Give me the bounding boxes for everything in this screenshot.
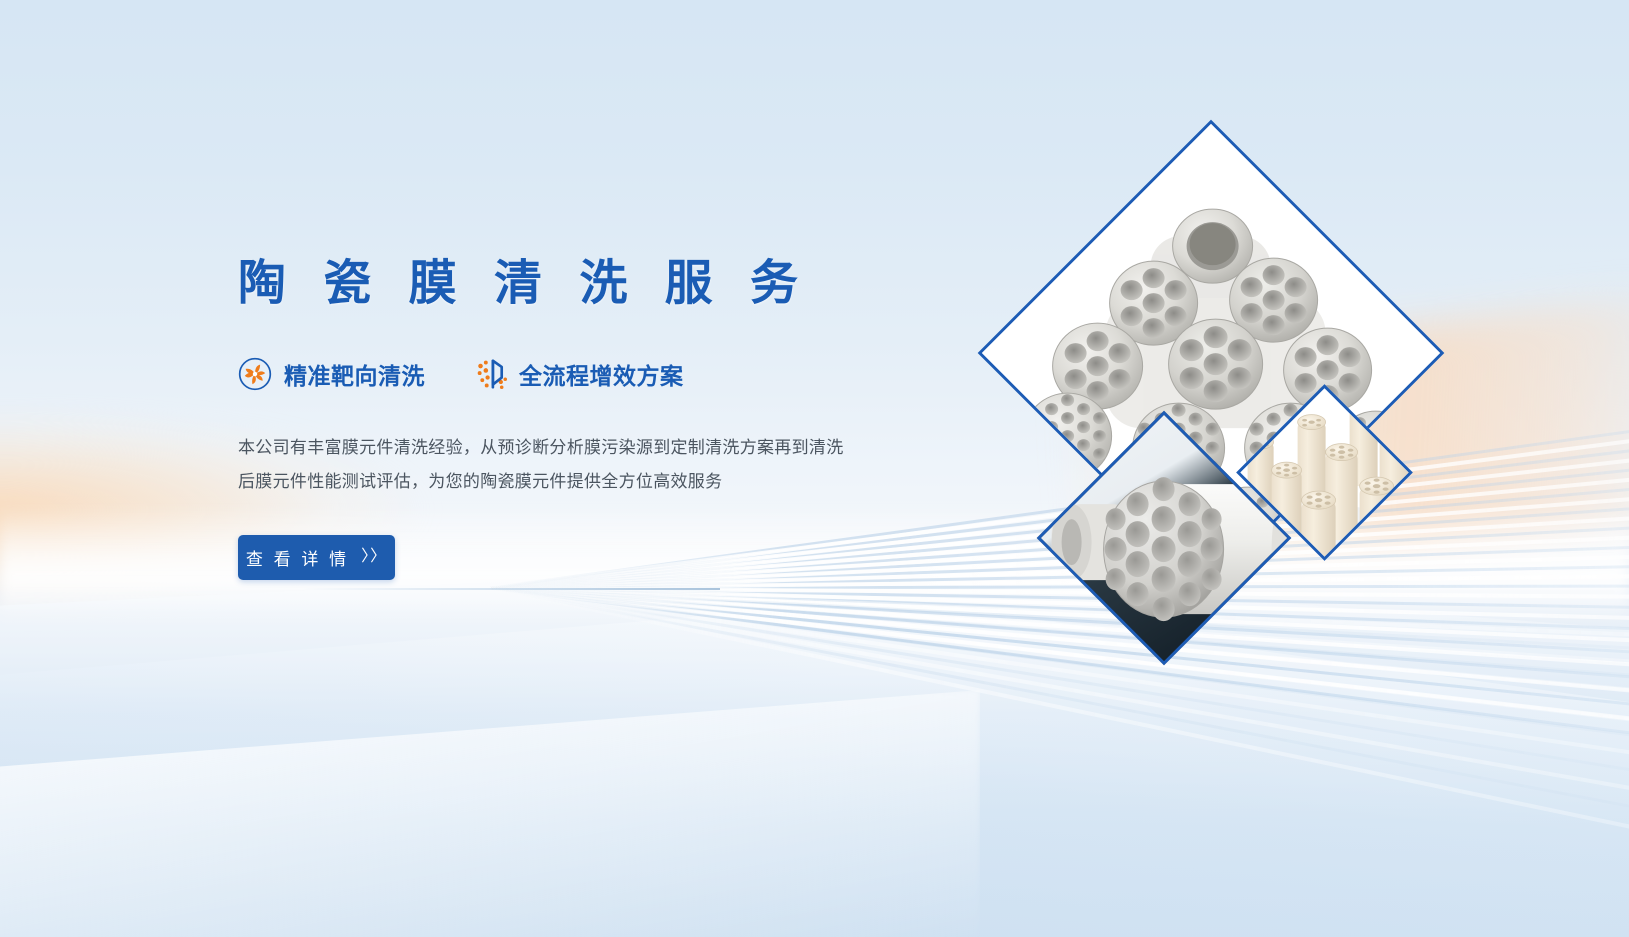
feature-item-precision-cleaning: 精准靶向清洗 xyxy=(238,357,425,391)
view-details-button[interactable]: 查 看 详 情 〉〉 xyxy=(238,535,395,580)
feature-label: 全流程增效方案 xyxy=(519,357,684,391)
description-line-1: 本公司有丰富膜元件清洗经验，从预诊断分析膜污染源到定制清洗方案再到清洗 xyxy=(238,431,918,465)
hero-description: 本公司有丰富膜元件清洗经验，从预诊断分析膜污染源到定制清洗方案再到清洗 后膜元件… xyxy=(238,431,918,499)
feature-item-full-process: 全流程增效方案 xyxy=(477,357,684,391)
page-title: 陶 瓷 膜 清 洗 服 务 xyxy=(238,255,998,313)
view-details-label: 查 看 详 情 xyxy=(246,545,349,570)
flow-arrow-icon xyxy=(477,358,507,390)
description-line-2: 后膜元件性能测试评估，为您的陶瓷膜元件提供全方位高效服务 xyxy=(238,465,918,499)
pinwheel-icon xyxy=(238,357,272,391)
perspective-stripes-lower xyxy=(470,580,1629,840)
feature-label: 精准靶向清洗 xyxy=(284,357,425,391)
feature-list: 精准靶向清洗 xyxy=(238,357,998,391)
chevron-right-double-icon: 〉〉 xyxy=(361,549,387,565)
hero-content: 陶 瓷 膜 清 洗 服 务 xyxy=(238,255,998,580)
hero-banner: 陶 瓷 膜 清 洗 服 务 xyxy=(0,0,1629,937)
horizon-line xyxy=(300,588,720,590)
